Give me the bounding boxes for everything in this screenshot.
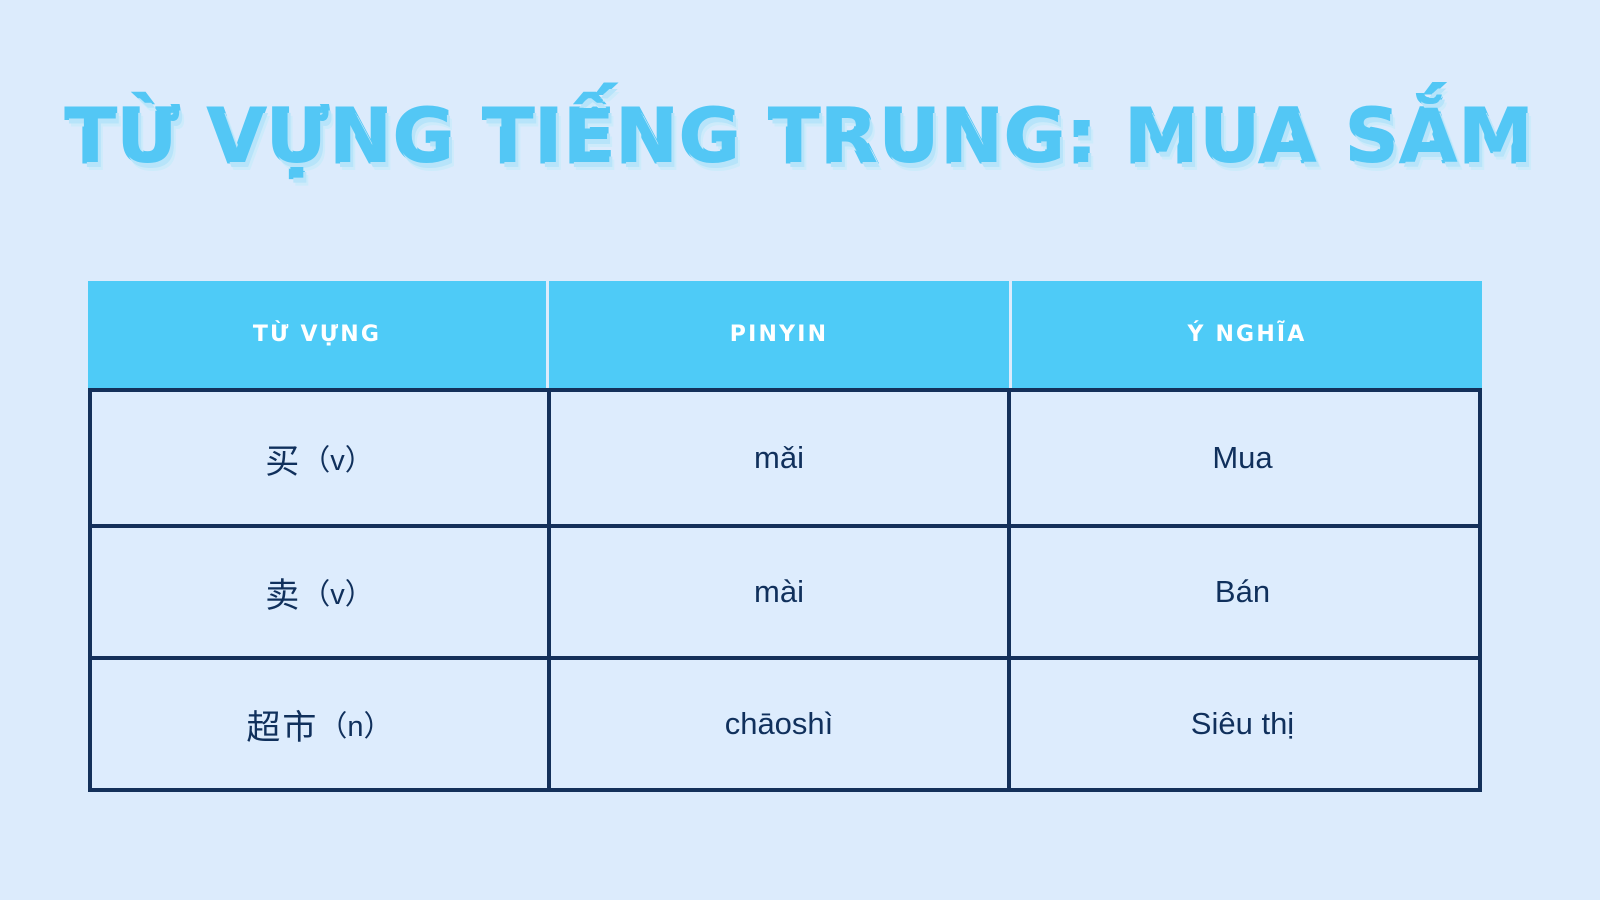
cell-pinyin: mài [547,528,1007,656]
cell-meaning: Siêu thị [1007,660,1474,788]
cell-vocabulary: 卖（v） [92,528,547,656]
column-header-pinyin: PINYIN [549,281,1009,388]
vocabulary-poster: TỪ VỰNG TIẾNG TRUNG: MUA SẮM TỪ VỰNG PIN… [0,0,1600,900]
chinese-word: 超市 [246,700,318,749]
cell-vocabulary: 买（v） [92,392,547,524]
chinese-word: 买 [265,434,301,483]
column-header-meaning: Ý NGHĨA [1012,281,1482,388]
table-row: 超市（n） chāoshì Siêu thị [92,656,1478,788]
chinese-word: 卖 [265,568,301,617]
cell-vocabulary: 超市（n） [92,660,547,788]
table-header-row: TỪ VỰNG PINYIN Ý NGHĨA [88,281,1482,388]
cell-pinyin: chāoshì [547,660,1007,788]
column-header-vocabulary: TỪ VỰNG [88,281,546,388]
page-title: TỪ VỰNG TIẾNG TRUNG: MUA SẮM [66,100,1535,174]
page-title-container: TỪ VỰNG TIẾNG TRUNG: MUA SẮM [0,100,1600,174]
table-row: 卖（v） mài Bán [92,524,1478,656]
part-of-speech: （n） [318,703,392,745]
cell-pinyin: mǎi [547,392,1007,524]
table-body: 买（v） mǎi Mua 卖（v） mài Bán 超市（n） chāoshì … [88,388,1482,792]
part-of-speech: （v） [301,571,374,613]
vocabulary-table: TỪ VỰNG PINYIN Ý NGHĨA 买（v） mǎi Mua 卖（v）… [88,281,1482,792]
cell-meaning: Mua [1007,392,1474,524]
table-row: 买（v） mǎi Mua [92,392,1478,524]
cell-meaning: Bán [1007,528,1474,656]
part-of-speech: （v） [301,437,374,479]
